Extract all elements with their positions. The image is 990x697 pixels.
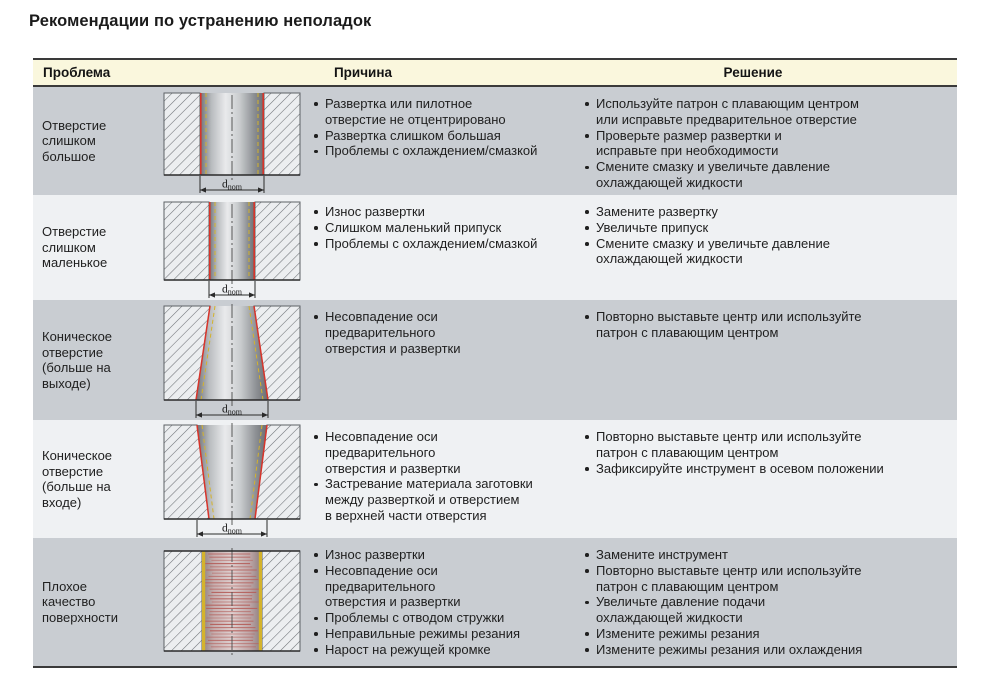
column-header-cause: Причина: [153, 65, 573, 80]
cause-item: Неправильные режимы резания: [312, 626, 577, 642]
hole-diagram-straight-narrow-hole: dnom: [152, 195, 312, 300]
solution-item: Увеличьте давление подачи охлаждающей жи…: [583, 594, 945, 626]
solution-item: Измените режимы резания или охлаждения: [583, 642, 945, 658]
cause-item: Проблемы с охлаждением/смазкой: [312, 236, 577, 252]
hole-diagram-rough-bore: [152, 538, 312, 666]
solution-item: Увеличьте припуск: [583, 220, 945, 236]
troubleshooting-table: Проблема Причина Решение Отверстие слишк…: [33, 58, 957, 668]
cause-item: Износ развертки: [312, 547, 577, 563]
solution-item: Измените режимы резания: [583, 626, 945, 642]
cause-item: Износ развертки: [312, 204, 577, 220]
cause-item: Несовпадение оси предварительного отверс…: [312, 309, 577, 356]
solution-item: Проверьте размер развертки и исправьте п…: [583, 128, 945, 160]
solution-cell: Повторно выставьте центр или используйте…: [583, 420, 957, 538]
cause-item: Застревание материала заготовки между ра…: [312, 476, 577, 523]
solution-item: Зафиксируйте инструмент в осевом положен…: [583, 461, 945, 477]
problem-label: Коническое отверстие (больше на входе): [42, 448, 112, 510]
cause-cell: Несовпадение оси предварительного отверс…: [312, 420, 583, 538]
solution-item: Повторно выставьте центр или используйте…: [583, 309, 945, 341]
troubleshooting-page: Рекомендации по устранению неполадок Про…: [0, 0, 990, 697]
cause-item: Нарост на режущей кромке: [312, 642, 577, 658]
solution-item: Замените инструмент: [583, 547, 945, 563]
problem-cell: Отверстие слишком маленькое: [33, 195, 152, 300]
cause-item: Несовпадение оси предварительного отверс…: [312, 563, 577, 610]
svg-text:dnom: dnom: [222, 179, 243, 192]
solution-item: Повторно выставьте центр или используйте…: [583, 563, 945, 595]
solution-item: Замените развертку: [583, 204, 945, 220]
table-row: Коническое отверстие (больше на выходе): [33, 300, 957, 420]
cause-item: Несовпадение оси предварительного отверс…: [312, 429, 577, 476]
solution-item: Повторно выставьте центр или используйте…: [583, 429, 945, 461]
problem-cell: Плохое качество поверхности: [33, 538, 152, 666]
problem-cell: Коническое отверстие (больше на входе): [33, 420, 152, 538]
cause-item: Слишком маленький припуск: [312, 220, 577, 236]
column-header-solution: Решение: [573, 65, 957, 80]
solution-cell: Замените разверткуУвеличьте припускСмени…: [583, 195, 957, 300]
cause-item: Развертка или пилотное отверстие не отце…: [312, 96, 577, 128]
table-row: Отверстие слишком маленькое: [33, 195, 957, 300]
cause-item: Проблемы с отводом стружки: [312, 610, 577, 626]
solution-item: Смените смазку и увеличьте давление охла…: [583, 159, 945, 191]
svg-text:dnom: dnom: [222, 283, 243, 296]
table-header-row: Проблема Причина Решение: [33, 58, 957, 87]
hole-diagram-straight-wide-hole: dnom: [152, 87, 312, 195]
problem-label: Плохое качество поверхности: [42, 579, 118, 626]
solution-cell: Повторно выставьте центр или используйте…: [583, 300, 957, 420]
cause-item: Проблемы с охлаждением/смазкой: [312, 143, 577, 159]
solution-cell: Используйте патрон с плавающим центром и…: [583, 87, 957, 195]
solution-cell: Замените инструментПовторно выставьте це…: [583, 538, 957, 666]
table-row: Отверстие слишком большое: [33, 87, 957, 195]
cause-item: Развертка слишком большая: [312, 128, 577, 144]
solution-item: Смените смазку и увеличьте давление охла…: [583, 236, 945, 268]
problem-cell: Коническое отверстие (больше на выходе): [33, 300, 152, 420]
hole-diagram-taper-wider-at-top: dnom: [152, 420, 312, 538]
column-header-problem: Проблема: [33, 65, 153, 80]
cause-cell: Износ разверткиНесовпадение оси предвари…: [312, 538, 583, 666]
page-title: Рекомендации по устранению неполадок: [29, 12, 371, 31]
solution-item: Используйте патрон с плавающим центром и…: [583, 96, 945, 128]
problem-cell: Отверстие слишком большое: [33, 87, 152, 195]
cause-cell: Несовпадение оси предварительного отверс…: [312, 300, 583, 420]
table-body: Отверстие слишком большое: [33, 87, 957, 668]
problem-label: Отверстие слишком маленькое: [42, 224, 107, 271]
cause-cell: Износ разверткиСлишком маленький припуск…: [312, 195, 583, 300]
problem-label: Отверстие слишком большое: [42, 118, 106, 165]
problem-label: Коническое отверстие (больше на выходе): [42, 329, 112, 391]
hole-diagram-taper-wider-at-bottom: dnom: [152, 300, 312, 420]
cause-cell: Развертка или пилотное отверстие не отце…: [312, 87, 583, 195]
table-row: Плохое качество поверхности: [33, 538, 957, 666]
table-row: Коническое отверстие (больше на входе): [33, 420, 957, 538]
